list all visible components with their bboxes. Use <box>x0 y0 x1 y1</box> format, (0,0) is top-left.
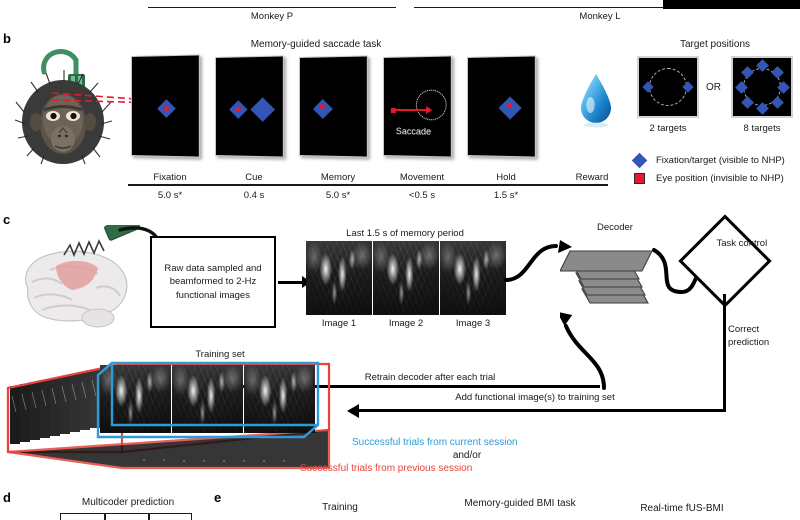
epoch-duration-fixation: 5.0 s* <box>128 190 212 202</box>
panel-b-title: Memory-guided saccade task <box>186 39 446 52</box>
target-set-2 <box>637 56 699 118</box>
legend-fixation-target: Fixation/target (visible to NHP) <box>634 155 785 167</box>
panel-e-training-label: Training <box>300 502 380 515</box>
monkey-p-bracket <box>148 7 396 8</box>
panel-letter-d: d <box>3 490 11 505</box>
cue-eye-position-dot-icon <box>236 107 241 112</box>
task-screen-cue <box>215 55 284 157</box>
memory-period-image-strip <box>306 241 506 315</box>
decoder-label: Decoder <box>570 222 660 234</box>
epoch-name-cue: Cue <box>212 172 296 184</box>
training-note-previous: Successful trials from previous session <box>300 463 472 476</box>
task-screen-movement: Saccade <box>383 55 452 157</box>
memory-image-3-label: Image 3 <box>440 318 506 330</box>
task-screen-memory <box>299 55 368 157</box>
training-note-current: Successful trials from current session <box>352 437 518 450</box>
target-set-8 <box>731 56 793 118</box>
retrain-label: Retrain decoder after each trial <box>330 372 530 384</box>
training-set-current-outline <box>96 361 320 439</box>
reward-water-drop-icon <box>578 72 614 128</box>
figure-root: Monkey P Monkey L b Memory-guided saccad… <box>0 0 800 520</box>
acquisition-box: Raw data sampled and beamformed to 2-Hz … <box>150 236 276 328</box>
acquisition-box-text: Raw data sampled and beamformed to 2-Hz … <box>158 262 268 302</box>
arrow-acquisition-to-images <box>278 281 304 284</box>
legend-diamond-icon <box>632 153 648 169</box>
legend-fixation-target-text: Fixation/target (visible to NHP) <box>656 155 785 167</box>
legend-eye-position-text: Eye position (invisible to NHP) <box>656 173 784 185</box>
memory-image-1-label: Image 1 <box>306 318 372 330</box>
epoch-name-movement: Movement <box>380 172 464 184</box>
panel-letter-c: c <box>3 212 10 227</box>
legend-eye-position: Eye position (invisible to NHP) <box>634 173 784 185</box>
epoch-duration-memory: 5.0 s* <box>296 190 380 202</box>
epoch-duration-hold: 1.5 s* <box>464 190 548 202</box>
reward-label: Reward <box>552 172 632 184</box>
memory-eye-position-dot-icon <box>320 104 325 109</box>
monkey-l-label: Monkey L <box>414 11 786 23</box>
panel-letter-e: e <box>214 490 221 505</box>
epoch-duration-movement: <0.5 s <box>380 190 464 202</box>
panel-e-realtime-label: Real-time fUS-BMI <box>612 503 752 516</box>
memory-period-title: Last 1.5 s of memory period <box>300 228 510 240</box>
panel-e-bmi-task-label: Memory-guided BMI task <box>440 498 600 511</box>
epoch-name-fixation: Fixation <box>128 172 212 184</box>
saccade-label: Saccade <box>396 126 431 138</box>
memory-image-2 <box>373 241 439 315</box>
epoch-name-hold: Hold <box>464 172 548 184</box>
target-ring-2 <box>649 68 687 106</box>
panel-d-table-div-2 <box>148 513 150 520</box>
panel-d-title: Multicoder prediction <box>48 497 208 510</box>
add-image-line-h <box>358 409 725 412</box>
or-label: OR <box>706 82 721 95</box>
target-set-2-label: 2 targets <box>630 123 706 135</box>
memory-image-1 <box>306 241 372 315</box>
correct-prediction-label: Correct prediction <box>728 324 784 350</box>
epoch-timeline-rule <box>128 184 608 186</box>
hold-target-diamond-icon <box>499 96 522 119</box>
arrowhead-add-image <box>347 404 359 418</box>
arrow-retrain-to-decoder <box>560 300 640 390</box>
training-note-andor: and/or <box>352 450 582 463</box>
saccade-arrow-icon <box>394 109 427 111</box>
panel-d-table-div-1 <box>104 513 106 520</box>
correct-prediction-line-v <box>723 294 726 412</box>
legend-square-icon <box>634 173 645 184</box>
hold-eye-position-dot-icon <box>507 103 512 108</box>
epoch-duration-cue: 0.4 s <box>212 190 296 202</box>
correct-prediction-text: Correct prediction <box>728 324 784 350</box>
target-positions-title: Target positions <box>640 39 790 52</box>
epoch-name-memory: Memory <box>296 172 380 184</box>
target-window-dashed-circle <box>416 90 447 121</box>
top-black-bar <box>663 0 800 9</box>
eye-position-dot-icon <box>164 106 169 111</box>
memory-image-3 <box>440 241 506 315</box>
memory-image-2-label: Image 2 <box>373 318 439 330</box>
cue-target-diamond-icon <box>250 97 275 122</box>
task-screen-fixation <box>131 54 200 157</box>
memory-fixation-diamond-icon <box>313 99 333 119</box>
add-image-label: Add functional image(s) to training set <box>380 392 690 404</box>
monkey-p-label: Monkey P <box>148 11 396 23</box>
panel-letter-b: b <box>3 31 11 46</box>
target-set-8-label: 8 targets <box>724 123 800 135</box>
task-control-label: Task control <box>712 238 772 250</box>
task-screen-hold <box>467 55 536 157</box>
panel-d-table-top <box>60 513 192 520</box>
training-set-label: Training set <box>140 349 300 361</box>
